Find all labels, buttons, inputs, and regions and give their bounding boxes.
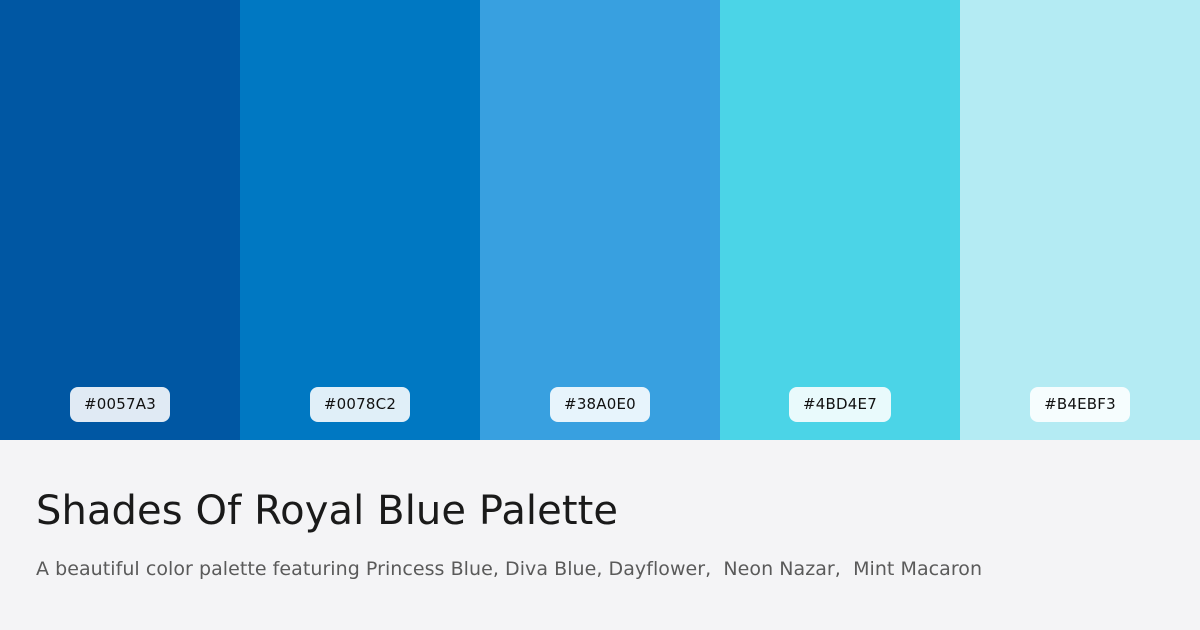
hex-code-chip[interactable]: #0078C2: [310, 387, 410, 422]
hex-code-chip[interactable]: #0057A3: [70, 387, 170, 422]
color-swatch[interactable]: #0078C2: [240, 0, 480, 440]
palette-description: A beautiful color palette featuring Prin…: [36, 556, 1164, 583]
color-swatch[interactable]: #38A0E0: [480, 0, 720, 440]
color-swatch[interactable]: #B4EBF3: [960, 0, 1200, 440]
swatch-band: #0057A3 #0078C2 #38A0E0 #4BD4E7 #B4EBF3: [0, 0, 1200, 440]
hex-code-chip[interactable]: #B4EBF3: [1030, 387, 1130, 422]
palette-footer: Shades Of Royal Blue Palette A beautiful…: [0, 440, 1200, 630]
color-swatch[interactable]: #0057A3: [0, 0, 240, 440]
hex-code-chip[interactable]: #4BD4E7: [789, 387, 891, 422]
page-title: Shades Of Royal Blue Palette: [36, 488, 1164, 534]
color-swatch[interactable]: #4BD4E7: [720, 0, 960, 440]
color-palette-card: #0057A3 #0078C2 #38A0E0 #4BD4E7 #B4EBF3 …: [0, 0, 1200, 630]
hex-code-chip[interactable]: #38A0E0: [550, 387, 650, 422]
